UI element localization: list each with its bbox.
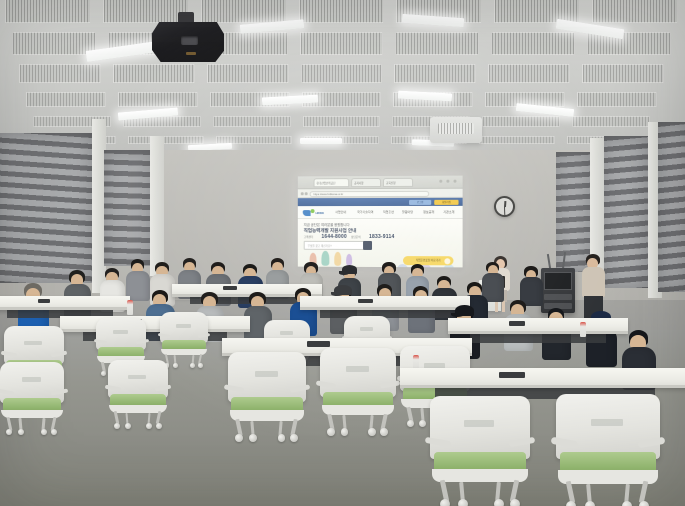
ceiling-tile xyxy=(299,0,385,23)
cta-badge-icon xyxy=(444,258,450,264)
browser-tab-0[interactable]: 한국산업인력공단 xyxy=(314,178,350,187)
chair-brand-logo xyxy=(22,377,41,382)
site-search-input[interactable]: 무엇을 찾고 계신가요? xyxy=(304,241,369,250)
hero-tel-number-2: 1833-9114 xyxy=(369,233,394,239)
chair-caster-3 xyxy=(41,429,47,435)
ceiling-tile xyxy=(12,32,96,55)
water-bottle-0 xyxy=(127,300,133,315)
window-blind-1[interactable] xyxy=(104,150,150,266)
back-arrow-icon[interactable] xyxy=(301,192,303,194)
chair-3[interactable] xyxy=(228,352,306,438)
chair-caster-1 xyxy=(156,423,162,429)
ceiling-light-9 xyxy=(300,138,342,144)
ceiling-tile xyxy=(479,136,555,144)
chair-4[interactable] xyxy=(320,348,396,432)
window-blind-4[interactable] xyxy=(658,122,685,292)
chair-backrest xyxy=(556,394,660,459)
illustration-figure-3 xyxy=(334,252,341,266)
signup-button[interactable]: 회원가입 xyxy=(434,199,458,204)
table-cable-port-icon xyxy=(307,341,330,346)
chair-backrest xyxy=(228,352,306,402)
av-cabinet xyxy=(541,268,575,313)
chair-brand-logo xyxy=(464,420,494,428)
forward-arrow-icon[interactable] xyxy=(305,192,307,194)
ceiling-tile xyxy=(5,0,91,23)
chair-caster-1 xyxy=(510,499,520,506)
hero-tel-label-1: 고객센터 xyxy=(304,235,313,239)
chair-8[interactable] xyxy=(430,396,530,504)
ceiling-tile xyxy=(213,116,291,127)
chair-caster-3 xyxy=(278,434,286,442)
window-maximize-icon[interactable] xyxy=(446,180,449,183)
ceiling-tile xyxy=(395,32,479,55)
chair-brand-logo xyxy=(280,331,294,335)
table-edge xyxy=(400,385,685,388)
table-cable-port-icon xyxy=(499,372,525,378)
table-edge xyxy=(60,329,250,332)
projector-indicator-icon xyxy=(186,52,196,55)
ceiling-tile xyxy=(201,0,287,23)
window-blind-0[interactable] xyxy=(0,133,92,283)
ceiling-tile xyxy=(303,116,381,127)
ceiling-tile xyxy=(103,0,189,23)
browser-chrome: 한국산업인력공단 공지사항 교육신청 xyxy=(298,176,463,190)
site-utility-bar: 로그인 회원가입 xyxy=(298,198,463,206)
search-icon[interactable] xyxy=(363,241,372,250)
chair-backrest xyxy=(4,326,64,364)
table-5 xyxy=(400,368,685,388)
standing-attendee-shirt xyxy=(582,267,605,297)
conference-room-photo: 한국산업인력공단 공지사항 교육신청 https://www.hrdkorea.… xyxy=(0,0,685,506)
ceiling-tile xyxy=(118,92,198,107)
site-logo[interactable]: HRDK xyxy=(303,209,325,217)
url-input[interactable]: https://www.hrdkorea.or.kr xyxy=(310,190,430,196)
chair-caster-2 xyxy=(18,429,24,435)
chair-caster-1 xyxy=(380,428,388,436)
av-shelf-1 xyxy=(544,294,572,300)
ceiling-tile xyxy=(482,116,560,127)
browser-tab-1[interactable]: 공지사항 xyxy=(351,178,381,187)
table-cable-port-icon xyxy=(38,299,51,303)
hero-subtitle: 지금 공단은 여러분을 응원합니다 xyxy=(304,222,350,227)
chair-caster-0 xyxy=(114,423,120,429)
ac-grille-icon xyxy=(438,123,474,134)
browser-toolbar: https://www.hrdkorea.or.kr xyxy=(298,189,463,198)
ceiling-tile xyxy=(488,64,570,83)
chair-brand-logo xyxy=(176,324,190,328)
ceiling-tile xyxy=(592,0,678,23)
ceiling-tile xyxy=(113,64,195,83)
ceiling-tile xyxy=(19,64,101,83)
chair-caster-2 xyxy=(249,434,257,442)
ceiling-light-7 xyxy=(516,103,575,117)
ceiling-tile xyxy=(491,32,575,55)
chair-caster-2 xyxy=(458,499,468,506)
table-1 xyxy=(60,316,250,332)
logo-text: HRDK xyxy=(303,209,325,217)
chair-caster-0 xyxy=(407,420,414,427)
ceiling-tile xyxy=(300,32,384,55)
projector-lens-icon xyxy=(181,36,198,45)
nav-item-1[interactable]: 국가기술자격 xyxy=(357,210,373,214)
table-0 xyxy=(0,296,130,310)
nav-item-3[interactable]: 알림마당 xyxy=(402,210,413,214)
nav-item-4[interactable]: 정보공개 xyxy=(423,210,434,214)
ceiling-tile xyxy=(582,64,664,83)
window-close-icon[interactable] xyxy=(453,180,456,183)
chair-caster-2 xyxy=(125,423,131,429)
hero-tel-number-1: 1644-8000 xyxy=(321,233,346,239)
chair-9[interactable] xyxy=(556,394,660,506)
chair-backrest xyxy=(160,312,208,343)
ceiling-tile xyxy=(128,136,204,144)
chair-7[interactable] xyxy=(108,360,168,426)
login-button[interactable]: 로그인 xyxy=(409,199,431,204)
chair-brand-logo xyxy=(24,341,42,346)
nav-item-2[interactable]: 직업훈련 xyxy=(383,210,394,214)
table-4 xyxy=(300,296,470,310)
window-minimize-icon[interactable] xyxy=(439,180,442,183)
wall-clock xyxy=(494,196,515,217)
presenter-leg-left xyxy=(495,301,498,312)
chair-brand-logo xyxy=(255,371,278,377)
chair-caster-1 xyxy=(639,501,649,506)
ceiling-tile xyxy=(26,92,106,107)
browser-tab-2[interactable]: 교육신청 xyxy=(383,178,413,187)
chair-backrest xyxy=(430,396,530,459)
audience-cap-brim-icon xyxy=(339,271,349,275)
table-edge xyxy=(0,307,130,310)
chair-brand-logo xyxy=(346,366,369,372)
chair-backrest xyxy=(108,360,168,398)
table-cable-port-icon xyxy=(223,286,237,290)
chair-brand-logo xyxy=(591,419,622,427)
av-monitor-icon xyxy=(544,272,572,290)
nav-item-5[interactable]: 기관소개 xyxy=(443,210,454,214)
chair-caster-3 xyxy=(146,423,152,429)
chair-backrest xyxy=(320,348,396,397)
water-bottle-2 xyxy=(580,322,586,337)
chair-brand-logo xyxy=(128,375,146,380)
table-cable-port-icon xyxy=(509,321,525,326)
chair-caster-0 xyxy=(327,428,335,436)
site-navigation: HRDK 사업안내 국가기술자격 직업훈련 알림마당 정보공개 기관소개 xyxy=(298,206,463,219)
chair-backrest xyxy=(0,362,64,403)
chair-caster-0 xyxy=(440,499,450,506)
ceiling-tile xyxy=(394,64,476,83)
chair-caster-3 xyxy=(494,499,504,506)
window-pillar-1 xyxy=(150,136,164,276)
chair-brand-logo xyxy=(113,330,128,334)
chair-caster-3 xyxy=(368,428,376,436)
chair-caster-0 xyxy=(235,434,243,442)
chair-caster-1 xyxy=(290,434,298,442)
chair-caster-2 xyxy=(585,501,595,506)
nav-item-0[interactable]: 사업안내 xyxy=(335,210,346,214)
window-blind-3[interactable] xyxy=(604,136,648,288)
illustration-figure-4 xyxy=(346,254,352,266)
ceiling-tile xyxy=(572,116,650,127)
ceiling-tile xyxy=(577,92,657,107)
chair-caster-2 xyxy=(341,428,349,436)
chair-brand-logo xyxy=(360,327,374,331)
chair-2[interactable] xyxy=(160,312,208,366)
table-edge xyxy=(448,331,628,334)
table-cable-port-icon xyxy=(358,299,373,303)
clock-hour-hand-icon xyxy=(504,200,506,206)
chair-caster-3 xyxy=(622,501,632,506)
ceiling-tile xyxy=(207,64,289,83)
table-edge xyxy=(300,307,470,310)
ceiling-ac-unit xyxy=(430,117,482,143)
projection-screen: 한국산업인력공단 공지사항 교육신청 https://www.hrdkorea.… xyxy=(298,176,463,268)
ceiling-tile xyxy=(301,64,383,83)
table-6 xyxy=(448,318,628,334)
chair-6[interactable] xyxy=(0,362,64,432)
chair-backrest xyxy=(96,318,146,350)
hero-tel-label-2: 상담문의 xyxy=(351,235,360,239)
clock-minute-hand-icon xyxy=(504,206,505,214)
